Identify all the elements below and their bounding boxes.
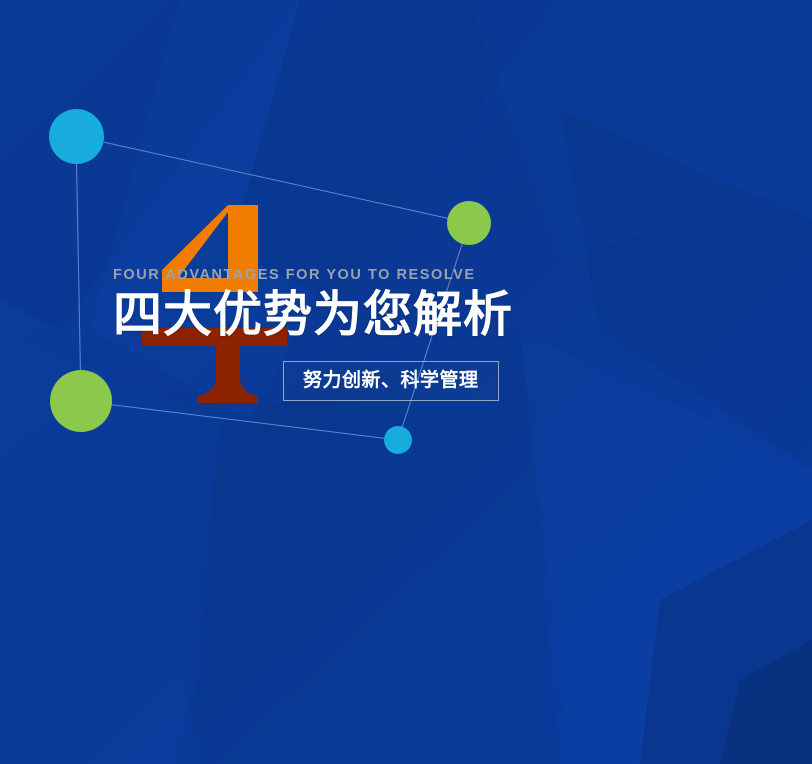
dot-cyan-bottom-right	[384, 426, 412, 454]
dot-cyan-top-left	[49, 109, 104, 164]
connector-line-bl-br	[81, 401, 398, 440]
connector-line-tl-bl	[76, 136, 81, 401]
banner-tagline-badge: 努力创新、科学管理	[283, 361, 499, 401]
dot-green-bottom-left	[50, 370, 112, 432]
promo-banner: FOUR ADVANTAGES FOR YOU TO RESOLVE 四大优势为…	[0, 0, 812, 764]
banner-content: FOUR ADVANTAGES FOR YOU TO RESOLVE 四大优势为…	[113, 268, 673, 401]
banner-eyebrow: FOUR ADVANTAGES FOR YOU TO RESOLVE	[113, 268, 673, 283]
dot-green-top-right	[447, 201, 491, 245]
connector-line-tl-tr	[76, 136, 469, 223]
banner-headline: 四大优势为您解析	[113, 291, 673, 340]
banner-tagline-wrap: 努力创新、科学管理	[283, 361, 673, 401]
